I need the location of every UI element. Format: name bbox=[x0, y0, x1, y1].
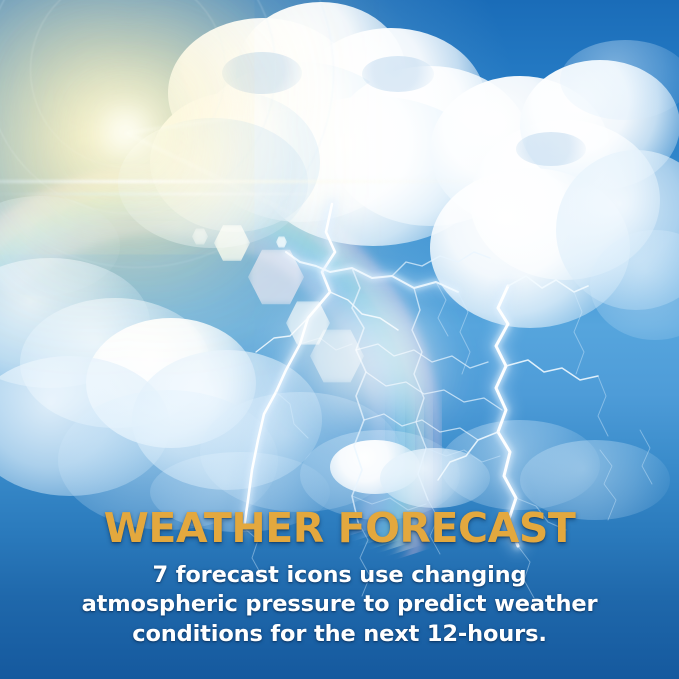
caption-block: WEATHER FORECAST 7 forecast icons use ch… bbox=[0, 508, 679, 649]
caption-text: 7 forecast icons use changing atmospheri… bbox=[0, 561, 679, 649]
caption-line-3: conditions for the next 12-hours. bbox=[0, 620, 679, 649]
page-title: WEATHER FORECAST bbox=[0, 508, 679, 549]
lens-flare-streak bbox=[0, 180, 500, 183]
lens-flare-streak-secondary bbox=[0, 193, 360, 195]
caption-line-1: 7 forecast icons use changing bbox=[0, 561, 679, 590]
caption-line-2: atmospheric pressure to predict weather bbox=[0, 590, 679, 619]
weather-forecast-banner: WEATHER FORECAST 7 forecast icons use ch… bbox=[0, 0, 679, 679]
